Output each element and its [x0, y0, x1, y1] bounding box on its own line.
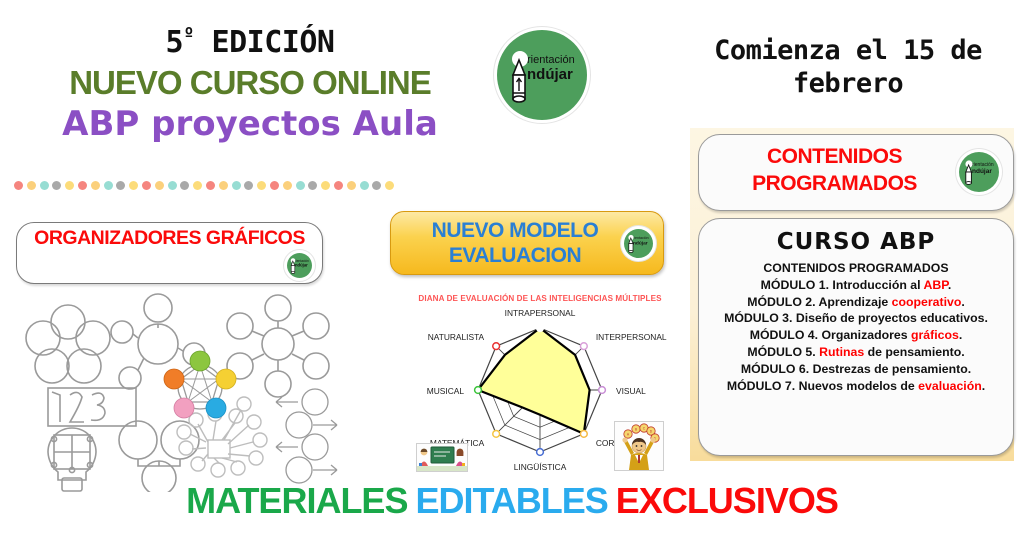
radar-vertex-marker [493, 430, 500, 437]
module-item: MÓDULO 7. Nuevos modelos de evaluación. [699, 378, 1013, 395]
decorative-dot [27, 181, 36, 190]
nuevo-modelo-evaluacion-banner: NUEVO MODELO EVALUACION rientación ndúja… [390, 211, 664, 275]
brand-logo-small: rientación ndújar [287, 253, 312, 278]
organizadores-graficos-box: ORGANIZADORES GRÁFICOS rientación ndújar [16, 222, 323, 284]
decorative-dot [360, 181, 369, 190]
decorative-dot [372, 181, 381, 190]
decorative-dot [347, 181, 356, 190]
decorative-dot [270, 181, 279, 190]
decorative-dot [78, 181, 87, 190]
brand-logo: rientación ndújar [497, 30, 587, 120]
module-item: MÓDULO 1. Introducción al ABP. [699, 277, 1013, 294]
radar-vertex-marker [493, 343, 500, 350]
decorative-dot [168, 181, 177, 190]
radar-vertex-marker [537, 449, 544, 456]
pencil-logo-icon: rientación ndújar [287, 253, 312, 278]
eval-banner-text: NUEVO MODELO EVALUACION [391, 218, 639, 268]
brand-logo-small: rientación ndújar [959, 152, 999, 192]
edition-ordinal: º [183, 24, 194, 46]
pencil-logo-icon: rientación ndújar [959, 152, 999, 192]
curso-abp-box: CURSO ABP CONTENIDOS PROGRAMADOS MÓDULO … [698, 218, 1014, 456]
edition-heading: 5º EDICIÓN [0, 24, 500, 60]
edition-number: 5 [165, 25, 183, 60]
decorative-dot [296, 181, 305, 190]
eval-line1: NUEVO MODELO [391, 218, 639, 243]
abp-subheading: ABP proyectos Aula [0, 104, 500, 144]
module-item: MÓDULO 6. Destrezas de pensamiento. [699, 361, 1013, 378]
decorative-dot [40, 181, 49, 190]
svg-text:ndújar: ndújar [527, 66, 573, 83]
decorative-dot [14, 181, 23, 190]
module-highlight: gráficos [911, 328, 959, 342]
start-date-line2: febrero [672, 67, 1024, 100]
start-date-heading: Comienza el 15 de febrero [672, 34, 1024, 100]
decorative-dot [334, 181, 343, 190]
decorative-dot [129, 181, 138, 190]
banner-word-exclusivos: EXCLUSIVOS [616, 480, 838, 521]
decorative-dot [206, 181, 215, 190]
decorative-dot [219, 181, 228, 190]
radar-chart-title: DIANA DE EVALUACIÓN DE LAS INTELIGENCIAS… [400, 294, 680, 303]
bottom-banner: MATERIALESEDITABLESEXCLUSIVOS [0, 480, 1024, 522]
decorative-dot [283, 181, 292, 190]
decorative-dot [142, 181, 151, 190]
svg-text:ndújar: ndújar [633, 241, 648, 247]
decorative-dot [104, 181, 113, 190]
radar-category-label: VISUAL [616, 386, 646, 396]
radar-category-label: INTRAPERSONAL [505, 308, 576, 318]
module-highlight: cooperativo [892, 295, 962, 309]
pentagon-organizer-icon [163, 348, 237, 422]
decorative-dot [321, 181, 330, 190]
decorative-dot [385, 181, 394, 190]
pencil-logo-icon: rientación ndújar [497, 30, 587, 120]
organizadores-title: ORGANIZADORES GRÁFICOS [17, 227, 322, 250]
svg-text:ndújar: ndújar [972, 168, 992, 175]
decorative-dot [65, 181, 74, 190]
svg-text:ndújar: ndújar [295, 263, 308, 268]
eval-line2: EVALUACION [391, 243, 639, 268]
module-highlight: ABP [924, 278, 948, 292]
decorative-dot-row [14, 180, 394, 192]
decorative-dot [244, 181, 253, 190]
banner-word-editables: EDITABLES [415, 480, 607, 521]
module-highlight: Rutinas [819, 345, 864, 359]
decorative-dot [180, 181, 189, 190]
radar-category-label: NATURALISTA [428, 332, 485, 342]
classroom-clipart [416, 443, 468, 472]
multiple-intelligences-clipart: ABC DE [614, 421, 664, 471]
module-item: MÓDULO 4. Organizadores gráficos. [699, 327, 1013, 344]
contenidos-title: CONTENIDOS PROGRAMADOS [707, 143, 962, 197]
decorative-dot [52, 181, 61, 190]
course-heading: NUEVO CURSO ONLINE [0, 64, 500, 102]
radar-vertex-marker [537, 325, 544, 332]
contenidos-line1: CONTENIDOS [707, 143, 962, 170]
module-list: CONTENIDOS PROGRAMADOS MÓDULO 1. Introdu… [699, 260, 1013, 394]
module-highlight: evaluación [918, 379, 982, 393]
svg-text:rientación: rientación [527, 54, 575, 66]
decorative-dot [155, 181, 164, 190]
radar-vertex-marker [580, 343, 587, 350]
contenidos-programados-box: CONTENIDOS PROGRAMADOS rientación ndújar [698, 134, 1014, 211]
contenidos-line2: PROGRAMADOS [707, 170, 962, 197]
curso-abp-title: CURSO ABP [699, 229, 1013, 255]
decorative-dot [308, 181, 317, 190]
module-item: MÓDULO 5. Rutinas de pensamiento. [699, 344, 1013, 361]
decorative-dot [193, 181, 202, 190]
decorative-dot [232, 181, 241, 190]
edition-word: EDICIÓN [194, 25, 335, 60]
radar-vertex-marker [475, 387, 482, 394]
module-item: MÓDULO 3. Diseño de proyectos educativos… [699, 310, 1013, 327]
module-subtitle: CONTENIDOS PROGRAMADOS [699, 260, 1013, 277]
svg-text:rientación: rientación [633, 236, 649, 240]
brand-logo-small: rientación ndújar [624, 229, 653, 258]
radar-category-label: LINGÜÍSTICA [514, 462, 567, 472]
decorative-dot [91, 181, 100, 190]
pencil-logo-icon: rientación ndújar [624, 229, 653, 258]
decorative-dot [257, 181, 266, 190]
start-date-line1: Comienza el 15 de [672, 34, 1024, 67]
banner-word-materiales: MATERIALES [186, 480, 407, 521]
radar-vertex-marker [580, 430, 587, 437]
decorative-dot [116, 181, 125, 190]
radar-category-label: MUSICAL [427, 386, 465, 396]
module-item: MÓDULO 2. Aprendizaje cooperativo. [699, 294, 1013, 311]
radar-category-label: INTERPERSONAL [596, 332, 667, 342]
radar-vertex-marker [599, 387, 606, 394]
